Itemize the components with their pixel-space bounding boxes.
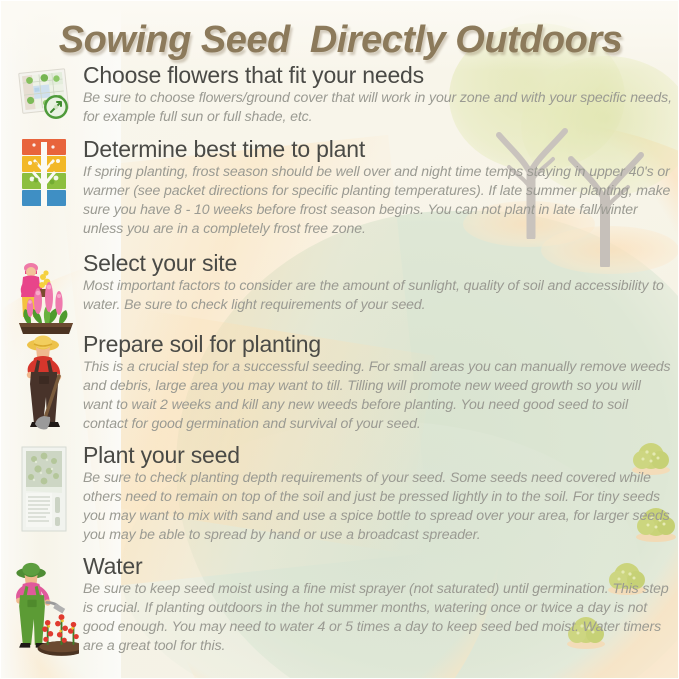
step-heading: Plant your seed <box>83 443 673 467</box>
step-text: Be sure to keep seed moist using a fine … <box>83 579 673 655</box>
gardener-with-planter-icon <box>9 251 79 337</box>
step-body: Select your site Most important factors … <box>83 251 673 314</box>
step-heading: Select your site <box>83 251 673 275</box>
seed-packet-icon <box>9 443 79 535</box>
step-heading: Water <box>83 554 673 578</box>
step-body: Plant your seed Be sure to check plantin… <box>83 443 673 544</box>
step-text: Be sure to check planting depth requirem… <box>83 468 673 544</box>
steps-list: Choose flowers that fit your needs Be su… <box>1 1 679 679</box>
step-body: Water Be sure to keep seed moist using a… <box>83 554 673 655</box>
garden-plan-compass-icon <box>9 63 79 125</box>
step-body: Prepare soil for planting This is a cruc… <box>83 332 673 433</box>
step-text: This is a crucial step for a successful … <box>83 357 673 433</box>
infographic-poster: Sowing Seed Directly Outdoors <box>0 0 679 679</box>
step-heading: Choose flowers that fit your needs <box>83 63 673 87</box>
step-heading: Prepare soil for planting <box>83 332 673 356</box>
step-text: Most important factors to consider are t… <box>83 276 673 314</box>
farmer-with-shovel-icon <box>9 332 79 432</box>
step-body: Choose flowers that fit your needs Be su… <box>83 63 673 126</box>
step-body: Determine best time to plant If spring p… <box>83 137 673 238</box>
step-text: If spring planting, frost season should … <box>83 162 673 238</box>
step-text: Be sure to choose flowers/ground cover t… <box>83 88 673 126</box>
four-seasons-tree-icon <box>9 137 79 211</box>
step-heading: Determine best time to plant <box>83 137 673 161</box>
gardener-watering-icon <box>9 554 79 662</box>
